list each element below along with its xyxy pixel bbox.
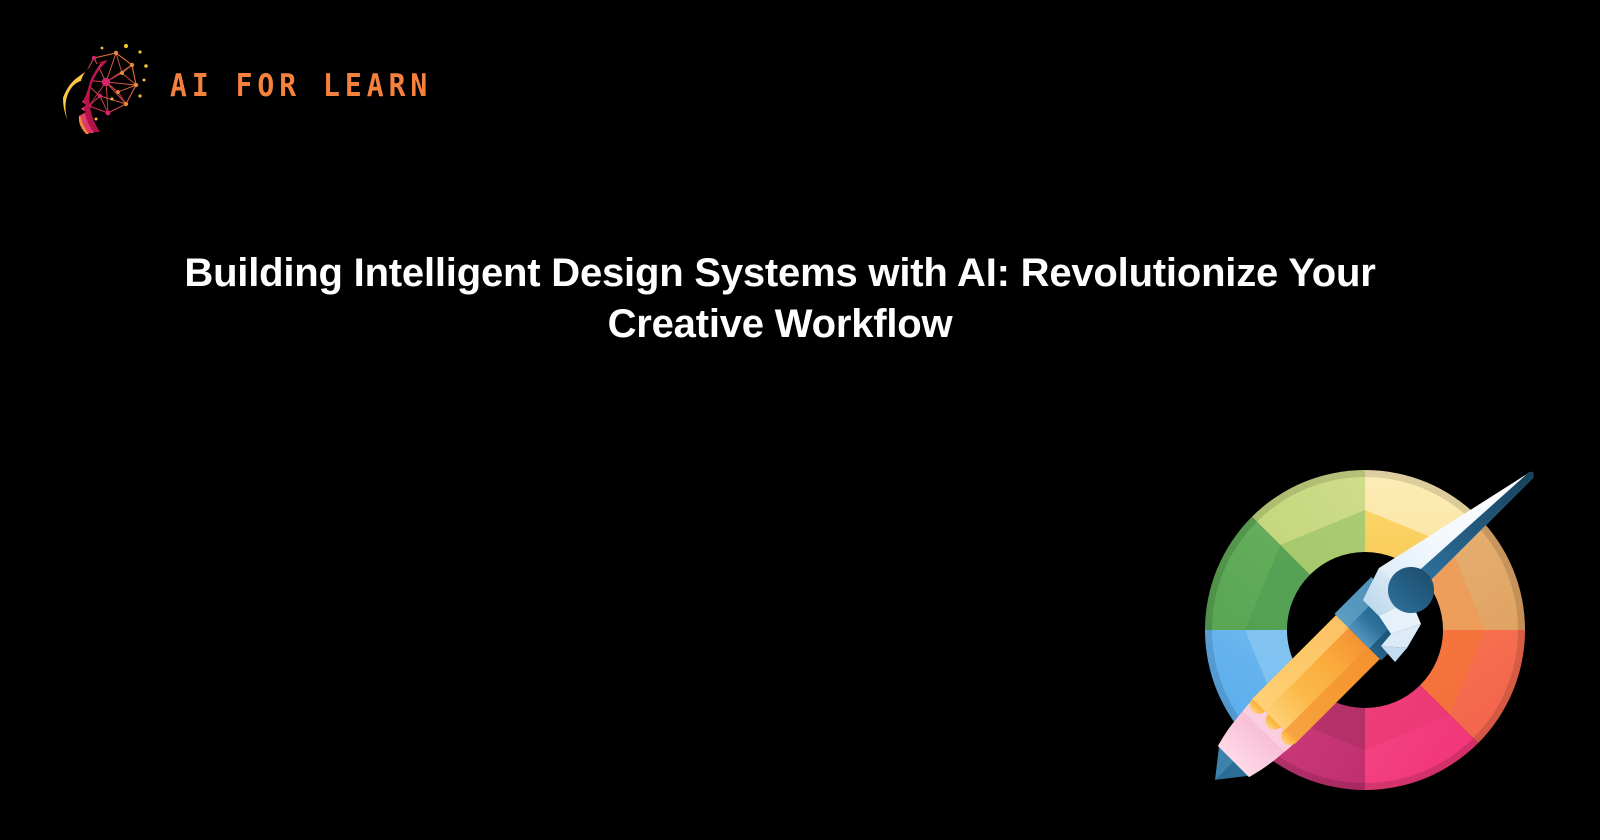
slide-canvas: AI FOR LEARN Building Intelligent Design…	[0, 0, 1600, 840]
brand-logo[interactable]: AI FOR LEARN	[56, 36, 432, 136]
brand-wordmark: AI FOR LEARN	[170, 70, 432, 101]
design-tools-color-wheel-illustration	[1175, 448, 1555, 804]
ai-head-network-logo-icon	[56, 36, 156, 136]
page-title: Building Intelligent Design Systems with…	[158, 248, 1402, 350]
